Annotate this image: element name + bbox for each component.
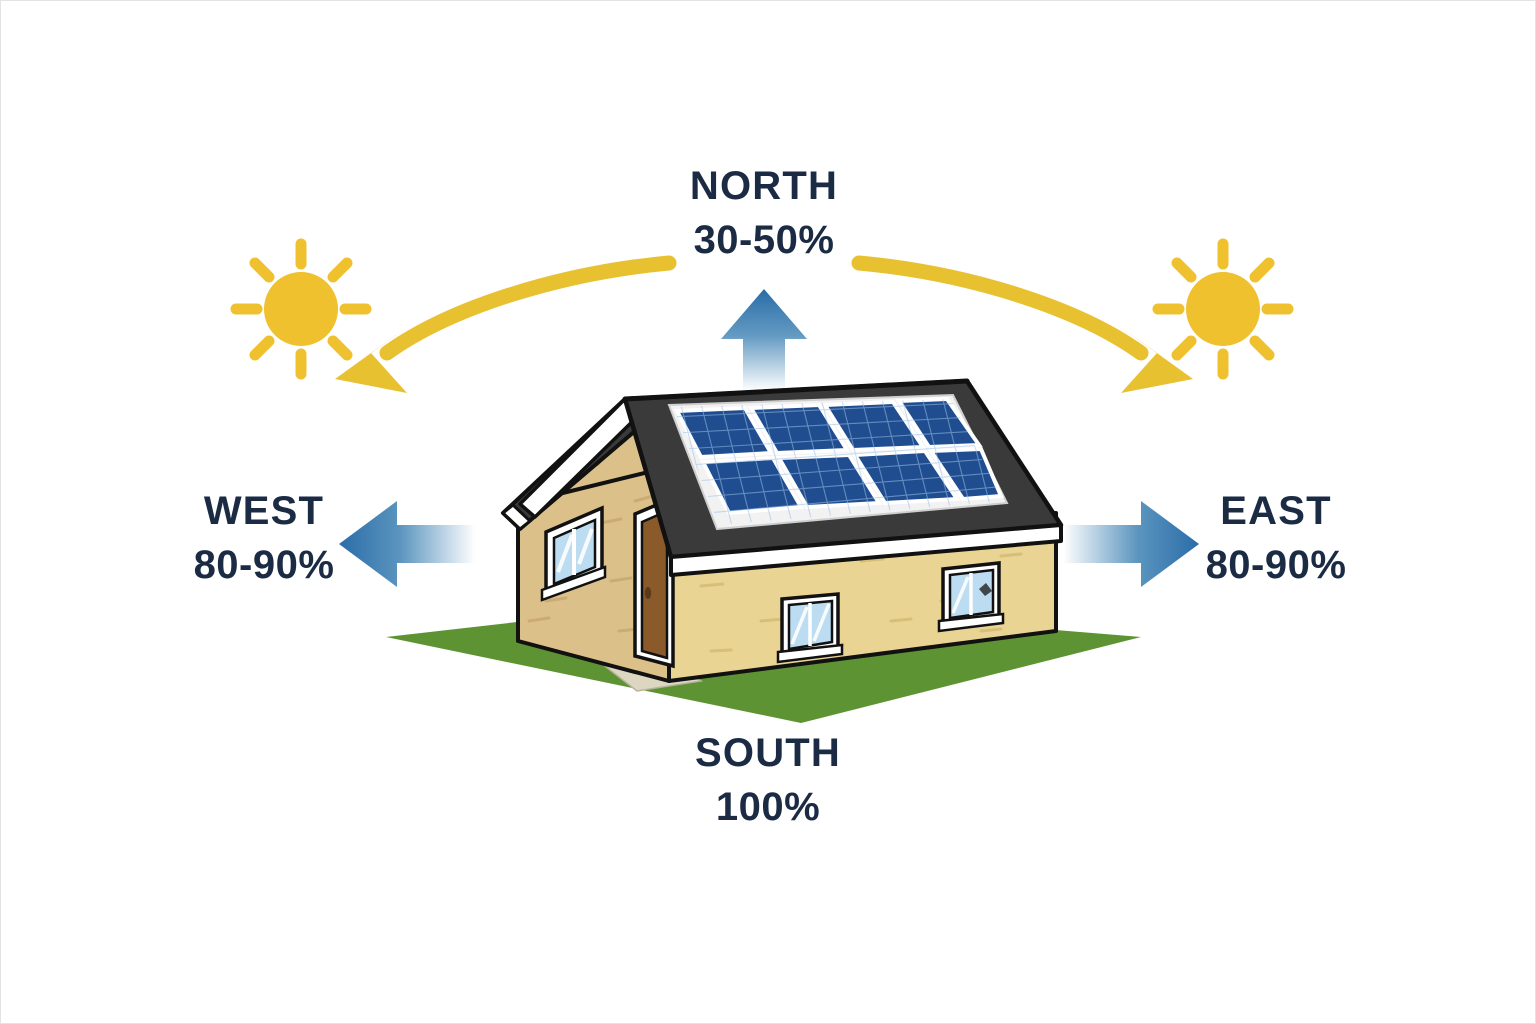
front-door bbox=[635, 498, 673, 666]
solar-array-frame bbox=[669, 395, 1007, 529]
arrow-up-north bbox=[721, 289, 807, 391]
window-front bbox=[542, 508, 605, 600]
diagram-canvas: NORTH 30-50% EAST 80-90% SOUTH 100% WEST… bbox=[0, 0, 1536, 1024]
solar-panel-array bbox=[677, 399, 1001, 513]
wall-front bbox=[518, 438, 669, 681]
window-side-2 bbox=[939, 563, 1003, 631]
window-side-1 bbox=[778, 594, 842, 662]
label-west-direction: WEST bbox=[149, 489, 379, 533]
house-with-solar-panels-icon bbox=[386, 381, 1141, 723]
roof-main-slope bbox=[625, 381, 1061, 557]
solar-panel bbox=[931, 449, 1001, 499]
roof-fascia bbox=[671, 525, 1061, 575]
sun-icon-right bbox=[1158, 244, 1288, 374]
gable-peak bbox=[518, 407, 669, 504]
solar-cell-grid bbox=[671, 391, 1019, 531]
brick-texture-front bbox=[529, 464, 659, 631]
wall-side bbox=[669, 513, 1056, 681]
label-north: NORTH 30-50% bbox=[609, 164, 919, 262]
label-east-efficiency: 80-90% bbox=[1161, 543, 1391, 587]
solar-panel bbox=[751, 405, 847, 453]
sun-path-arc-right-icon bbox=[859, 263, 1193, 393]
solar-panel bbox=[677, 408, 771, 457]
solar-panel bbox=[703, 458, 801, 513]
solar-panel bbox=[825, 402, 923, 450]
label-east-direction: EAST bbox=[1161, 489, 1391, 533]
front-path bbox=[601, 656, 701, 691]
sun-path-arc-left-icon bbox=[335, 263, 669, 393]
label-south: SOUTH 100% bbox=[613, 731, 923, 829]
sun-icon-left bbox=[236, 244, 366, 374]
label-west-efficiency: 80-90% bbox=[149, 543, 379, 587]
solar-panel bbox=[899, 399, 979, 447]
lawn bbox=[386, 601, 1141, 723]
solar-panel bbox=[855, 451, 957, 503]
label-north-direction: NORTH bbox=[609, 164, 919, 208]
label-west: WEST 80-90% bbox=[149, 489, 379, 587]
label-south-efficiency: 100% bbox=[613, 785, 923, 829]
label-south-direction: SOUTH bbox=[613, 731, 923, 775]
brick-texture-side bbox=[701, 554, 1021, 651]
roof-ridge bbox=[625, 381, 967, 399]
door-knob bbox=[645, 587, 651, 599]
roof-front-fascia bbox=[503, 505, 530, 529]
roof-front-slope bbox=[503, 399, 649, 529]
roof-gable-eave bbox=[520, 399, 641, 517]
label-east: EAST 80-90% bbox=[1161, 489, 1391, 587]
label-north-efficiency: 30-50% bbox=[609, 218, 919, 262]
solar-panel bbox=[779, 455, 879, 507]
